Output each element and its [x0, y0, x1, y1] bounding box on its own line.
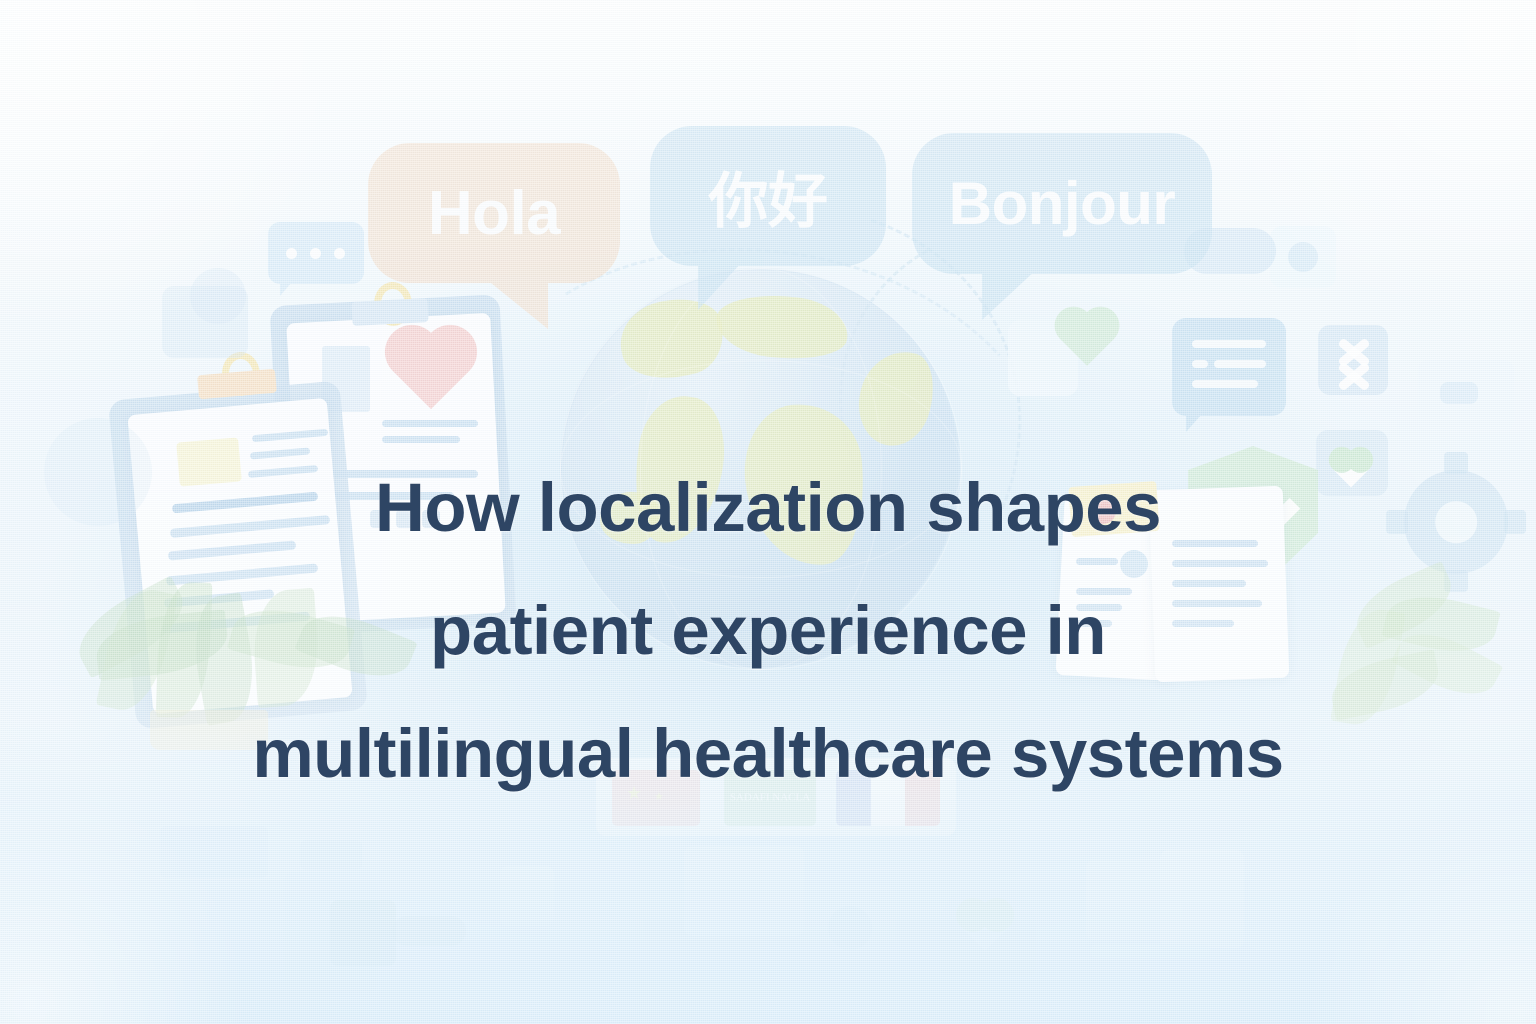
page-title: How localization shapes patient experien…: [0, 446, 1536, 815]
page-title-line-2: patient experience in: [0, 569, 1536, 692]
page-title-line-3: multilingual healthcare systems: [0, 692, 1536, 815]
poster-canvas: ★ ★ SADAFI NACLA Hola 你好 Bonjour How loc…: [0, 0, 1536, 1024]
page-title-line-1: How localization shapes: [0, 446, 1536, 569]
